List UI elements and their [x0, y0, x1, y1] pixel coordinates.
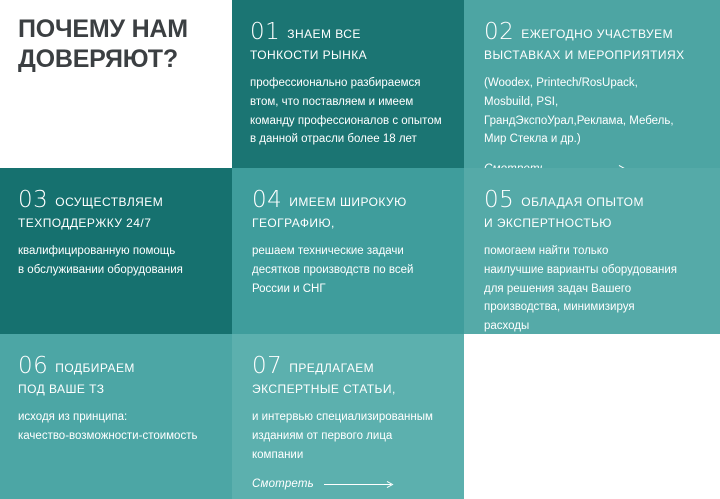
benefit-heading-line-1: 02ЕЖЕГОДНО УЧАСТВУЕМ: [484, 18, 704, 47]
benefit-title-line-1: ЗНАЕМ ВСЕ: [287, 27, 361, 41]
benefit-heading: 01ЗНАЕМ ВСЕ ТОНКОСТИ РЫНКА: [250, 18, 448, 62]
benefit-title-line-1: ОСУЩЕСТВЛЯЕМ: [55, 195, 163, 209]
benefit-heading: 04ИМЕЕМ ШИРОКУЮ ГЕОГРАФИЮ,: [252, 186, 448, 230]
benefit-heading-line-1: 05ОБЛАДАЯ ОПЫТОМ: [484, 186, 704, 215]
benefit-heading: 05ОБЛАДАЯ ОПЫТОМ И ЭКСПЕРТНОСТЬЮ: [484, 186, 704, 230]
page-title: ПОЧЕМУ НАМ ДОВЕРЯЮТ?: [18, 14, 216, 74]
see-more-label: Смотреть: [252, 478, 314, 490]
benefit-number: 03: [18, 187, 48, 213]
benefit-title-line-2: ВЫСТАВКАХ И МЕРОПРИЯТИЯХ: [484, 48, 704, 62]
benefit-body: профессионально разбираемся втом, что по…: [250, 74, 448, 149]
benefit-title-line-1: ЕЖЕГОДНО УЧАСТВУЕМ: [521, 27, 673, 41]
benefit-heading: 02ЕЖЕГОДНО УЧАСТВУЕМ ВЫСТАВКАХ И МЕРОПРИ…: [484, 18, 704, 62]
avito-watermark: Avito: [636, 467, 708, 487]
benefit-card-07[interactable]: 07ПРЕДЛАГАЕМ ЭКСПЕРТНЫЕ СТАТЬИ, и интерв…: [232, 334, 464, 499]
benefit-number: 01: [250, 19, 280, 45]
benefit-title-line-1: ИМЕЕМ ШИРОКУЮ: [289, 195, 406, 209]
benefit-title-line-2: ТЕХПОДДЕРЖКУ 24/7: [18, 216, 216, 230]
benefit-heading-line-1: 04ИМЕЕМ ШИРОКУЮ: [252, 186, 448, 215]
benefit-card-02[interactable]: 02ЕЖЕГОДНО УЧАСТВУЕМ ВЫСТАВКАХ И МЕРОПРИ…: [464, 0, 720, 168]
benefit-body: и интервью специализированным изданиям о…: [252, 408, 448, 464]
empty-cell: Avito: [464, 334, 720, 499]
benefit-card-04[interactable]: 04ИМЕЕМ ШИРОКУЮ ГЕОГРАФИЮ, решаем технич…: [232, 168, 464, 334]
benefit-heading-line-1: 03ОСУЩЕСТВЛЯЕМ: [18, 186, 216, 215]
benefit-heading: 03ОСУЩЕСТВЛЯЕМ ТЕХПОДДЕРЖКУ 24/7: [18, 186, 216, 230]
see-more-link[interactable]: Смотреть: [252, 478, 448, 490]
benefit-title-line-2: И ЭКСПЕРТНОСТЬЮ: [484, 216, 704, 230]
benefit-card-05[interactable]: 05ОБЛАДАЯ ОПЫТОМ И ЭКСПЕРТНОСТЬЮ помогае…: [464, 168, 720, 334]
benefit-card-01[interactable]: 01ЗНАЕМ ВСЕ ТОНКОСТИ РЫНКА профессиональ…: [232, 0, 464, 168]
benefit-title-line-2: ТОНКОСТИ РЫНКА: [250, 48, 448, 62]
benefit-body: (Woodex, Printech/RosUpack, Mosbuild, PS…: [484, 74, 704, 149]
benefit-card-06[interactable]: 06ПОДБИРАЕМ ПОД ВАШЕ ТЗ исходя из принци…: [0, 334, 232, 499]
benefit-heading-line-1: 07ПРЕДЛАГАЕМ: [252, 352, 448, 381]
benefit-number: 04: [252, 187, 282, 213]
benefits-grid: ПОЧЕМУ НАМ ДОВЕРЯЮТ? 01ЗНАЕМ ВСЕ ТОНКОСТ…: [0, 0, 720, 499]
benefit-title-line-1: ПОДБИРАЕМ: [55, 361, 135, 375]
avito-logo-icon: [636, 467, 660, 487]
benefit-heading: 07ПРЕДЛАГАЕМ ЭКСПЕРТНЫЕ СТАТЬИ,: [252, 352, 448, 396]
benefit-title-line-2: ПОД ВАШЕ ТЗ: [18, 382, 216, 396]
benefit-body: квалифицированную помощь в обслуживании …: [18, 242, 216, 279]
page-title-cell: ПОЧЕМУ НАМ ДОВЕРЯЮТ?: [0, 0, 232, 168]
benefit-body: решаем технические задачи десятков произ…: [252, 242, 448, 298]
benefit-number: 06: [18, 353, 48, 379]
benefit-title-line-2: ГЕОГРАФИЮ,: [252, 216, 448, 230]
benefit-heading-line-1: 06ПОДБИРАЕМ: [18, 352, 216, 381]
benefit-body: исходя из принципа: качество-возможности…: [18, 408, 216, 445]
arrow-right-icon: [324, 480, 396, 489]
avito-wordmark: Avito: [664, 468, 708, 487]
benefit-title-line-1: ПРЕДЛАГАЕМ: [289, 361, 374, 375]
benefit-heading-line-1: 01ЗНАЕМ ВСЕ: [250, 18, 448, 47]
benefit-title-line-1: ОБЛАДАЯ ОПЫТОМ: [521, 195, 644, 209]
benefit-body: помогаем найти только наилучшие варианты…: [484, 242, 704, 334]
benefit-number: 05: [484, 187, 514, 213]
benefit-number: 02: [484, 19, 514, 45]
benefit-heading: 06ПОДБИРАЕМ ПОД ВАШЕ ТЗ: [18, 352, 216, 396]
benefit-number: 07: [252, 353, 282, 379]
benefit-title-line-2: ЭКСПЕРТНЫЕ СТАТЬИ,: [252, 382, 448, 396]
benefit-card-03[interactable]: 03ОСУЩЕСТВЛЯЕМ ТЕХПОДДЕРЖКУ 24/7 квалифи…: [0, 168, 232, 334]
